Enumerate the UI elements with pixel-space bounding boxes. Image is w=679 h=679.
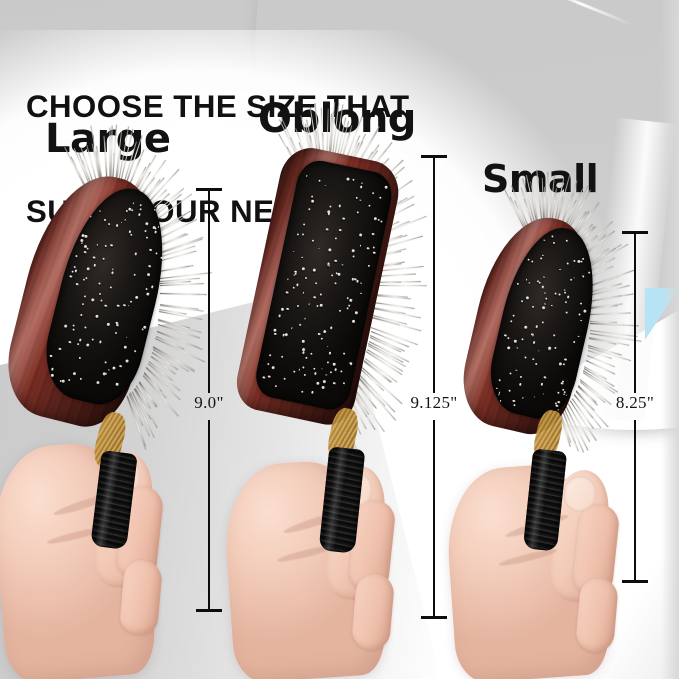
hand-holding-brush-large [0,408,180,679]
middle-finger [575,576,619,653]
dimension-line-small: 8.25" [615,231,655,584]
dimension-line-large: 9.0" [189,188,229,612]
dimension-value-large: 9.0" [194,393,223,413]
product-label-small: Small [482,157,598,201]
hand-holding-brush-oblong [224,430,414,679]
dimension-cap-bottom [622,580,648,583]
dimension-stem-upper [433,155,436,393]
dimension-stem-lower [634,420,637,581]
dimension-value-oblong: 9.125" [411,393,458,413]
dimension-cap-bottom [196,609,222,612]
dimension-stem-upper [634,231,637,393]
dimension-cap-bottom [421,616,447,619]
dimension-stem-lower [208,420,211,610]
infographic-canvas: CHOOSE THE SIZE THAT SUITS YOUR NEEDS! L… [0,0,679,679]
background-right-edge [661,0,679,679]
dimension-stem-upper [208,188,211,393]
middle-finger [351,572,395,651]
dimension-value-small: 8.25" [616,393,654,413]
dimension-stem-lower [433,420,436,617]
middle-finger [119,558,163,635]
product-label-large: Large [45,116,170,162]
